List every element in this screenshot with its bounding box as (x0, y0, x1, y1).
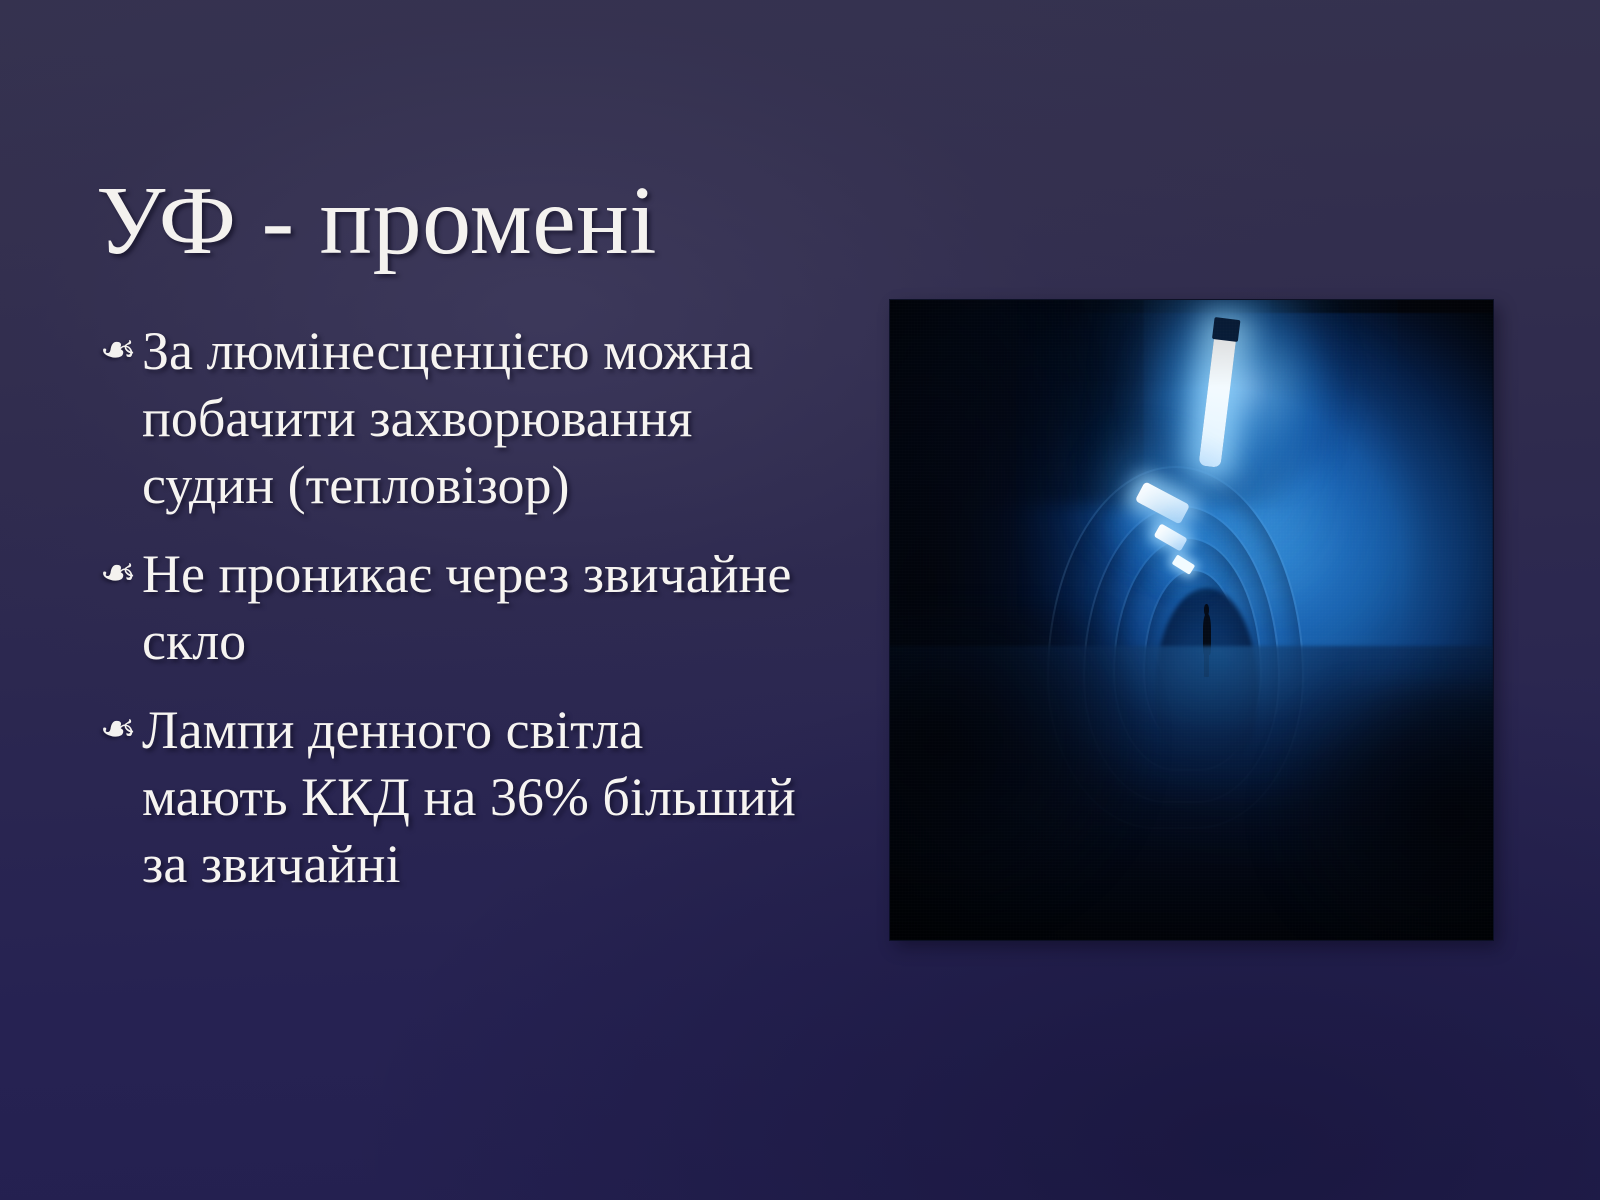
fluorescent-lamp-halo (1119, 300, 1360, 492)
slide: УФ - промені ❧ За люмінесценцією можна п… (0, 0, 1600, 1200)
leaf-bullet-icon: ❧ (96, 697, 140, 763)
list-item-text: Не проникає через звичайне скло (140, 541, 796, 675)
list-item: ❧ Лампи денного світла мають ККД на 36% … (96, 697, 796, 898)
leaf-bullet-icon: ❧ (96, 541, 140, 607)
list-item-text: Лампи денного світла мають ККД на 36% бі… (140, 697, 796, 898)
bullet-list: ❧ За люмінесценцією можна побачити захво… (96, 318, 796, 898)
tunnel-floor-shadow-right (1216, 684, 1493, 940)
tunnel-photo (890, 300, 1493, 940)
list-item: ❧ Не проникає через звичайне скло (96, 541, 796, 675)
list-item: ❧ За люмінесценцією можна побачити захво… (96, 318, 796, 519)
tunnel-floor-shadow-left (890, 607, 1216, 940)
list-item-text: За люмінесценцією можна побачити захворю… (140, 318, 796, 519)
leaf-bullet-icon: ❧ (96, 318, 140, 384)
page-title: УФ - промені (96, 170, 1196, 273)
tunnel-scene (890, 300, 1493, 940)
